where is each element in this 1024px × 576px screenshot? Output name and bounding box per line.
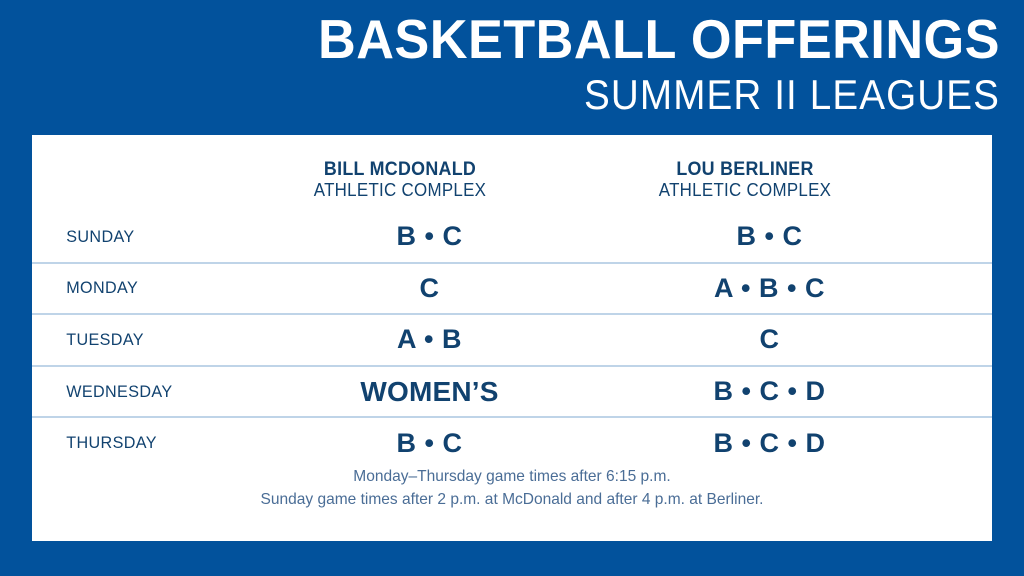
row-day-label: THURSDAY (32, 433, 260, 453)
row-cell-mcdonald: B • C (272, 221, 587, 252)
table-row: SUNDAY B • C B • C (32, 212, 992, 262)
table-row: WEDNESDAY WOMEN’S B • C • D (32, 365, 992, 417)
poster-header: BASKETBALL OFFERINGS SUMMER II LEAGUES (0, 0, 1024, 135)
schedule-rows: SUNDAY B • C B • C MONDAY C A • B • C TU… (32, 212, 992, 468)
row-day-label: SUNDAY (32, 227, 260, 247)
page-subtitle: SUMMER II LEAGUES (80, 72, 1000, 118)
venue-name-berliner: LOU BERLINER (604, 159, 886, 180)
basketball-offerings-poster: BASKETBALL OFFERINGS SUMMER II LEAGUES B… (0, 0, 1024, 576)
table-row: TUESDAY A • B C (32, 313, 992, 365)
page-title: BASKETBALL OFFERINGS (50, 8, 1000, 70)
footnote: Monday–Thursday game times after 6:15 p.… (32, 465, 992, 511)
venue-name-mcdonald: BILL MCDONALD (259, 159, 541, 180)
row-cell-berliner: C (587, 324, 952, 355)
schedule-card: BILL MCDONALD ATHLETIC COMPLEX LOU BERLI… (32, 135, 992, 541)
footnote-line-1: Monday–Thursday game times after 6:15 p.… (46, 465, 977, 488)
row-cell-berliner: B • C • D (587, 376, 952, 407)
table-row: MONDAY C A • B • C (32, 262, 992, 314)
row-cell-mcdonald: C (272, 273, 587, 304)
row-cell-mcdonald: WOMEN’S (272, 376, 587, 408)
table-row: THURSDAY B • C B • C • D (32, 416, 992, 468)
row-day-label: MONDAY (32, 278, 260, 298)
row-cell-berliner: B • C (587, 221, 952, 252)
footnote-line-2: Sunday game times after 2 p.m. at McDona… (46, 488, 977, 511)
row-day-label: WEDNESDAY (32, 382, 260, 402)
row-day-label: TUESDAY (32, 330, 260, 350)
row-cell-berliner: A • B • C (587, 273, 952, 304)
venue-sub-mcdonald: ATHLETIC COMPLEX (259, 180, 541, 200)
venue-sub-berliner: ATHLETIC COMPLEX (604, 180, 886, 200)
column-header-mcdonald: BILL MCDONALD ATHLETIC COMPLEX (250, 159, 550, 200)
row-cell-mcdonald: A • B (272, 324, 587, 355)
column-headers: BILL MCDONALD ATHLETIC COMPLEX LOU BERLI… (32, 159, 992, 209)
row-cell-mcdonald: B • C (272, 428, 587, 459)
column-header-berliner: LOU BERLINER ATHLETIC COMPLEX (595, 159, 895, 200)
row-cell-berliner: B • C • D (587, 428, 952, 459)
